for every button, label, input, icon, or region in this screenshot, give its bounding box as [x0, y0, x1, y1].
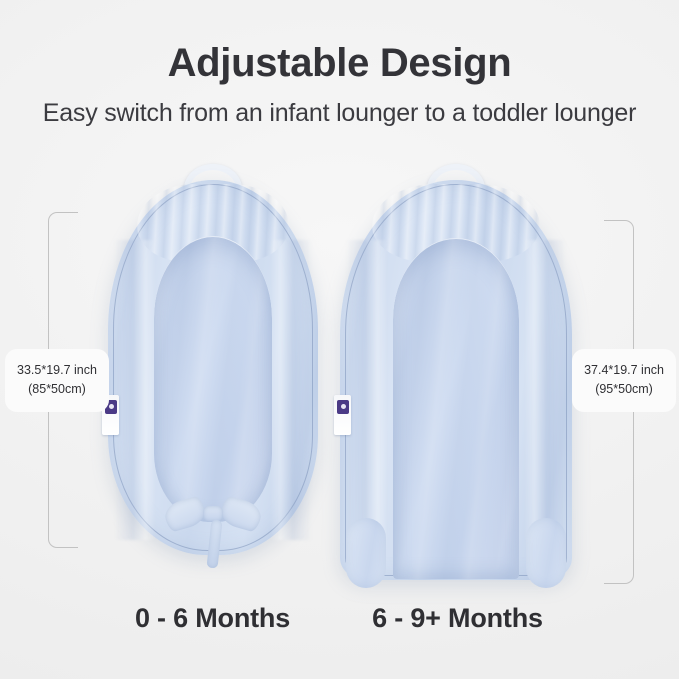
- bow-loop-left: [162, 495, 208, 533]
- page-title: Adjustable Design: [0, 40, 679, 86]
- dimension-inch-value: 33.5*19.7 inch: [17, 361, 97, 380]
- bow-tie-closure-icon: [165, 496, 261, 570]
- inner-mattress: [154, 236, 272, 522]
- open-bumper-leg-right: [526, 518, 566, 588]
- dimension-inch-value: 37.4*19.7 inch: [584, 361, 664, 380]
- bolster-shading-right: [524, 240, 566, 540]
- product-toddler-lounger: [340, 180, 572, 590]
- brand-logo-mark: [337, 400, 349, 414]
- caption-infant-age-range: 0 - 6 Months: [110, 603, 315, 634]
- bow-loop-right: [218, 495, 264, 533]
- caption-toddler-age-range: 6 - 9+ Months: [345, 603, 570, 634]
- header: Adjustable Design Easy switch from an in…: [0, 0, 679, 128]
- dimension-cm-value: (85*50cm): [17, 380, 97, 399]
- bow-tail: [207, 520, 223, 569]
- bolster-shading-left: [114, 240, 156, 540]
- brand-logo-mark: [105, 400, 117, 414]
- product-infant-lounger: [108, 180, 318, 580]
- dimension-label-infant: 33.5*19.7 inch (85*50cm): [8, 352, 106, 409]
- dimension-cm-value: (95*50cm): [584, 380, 664, 399]
- page-subtitle: Easy switch from an infant lounger to a …: [0, 98, 679, 128]
- inner-mattress: [393, 238, 519, 579]
- brand-tag-icon: [334, 395, 351, 435]
- dimension-label-toddler: 37.4*19.7 inch (95*50cm): [575, 352, 673, 409]
- bolster-shading-left: [346, 240, 388, 540]
- bolster-shading-right: [270, 240, 312, 540]
- adjustable-design-infographic: Adjustable Design Easy switch from an in…: [0, 0, 679, 679]
- open-bumper-leg-left: [346, 518, 386, 588]
